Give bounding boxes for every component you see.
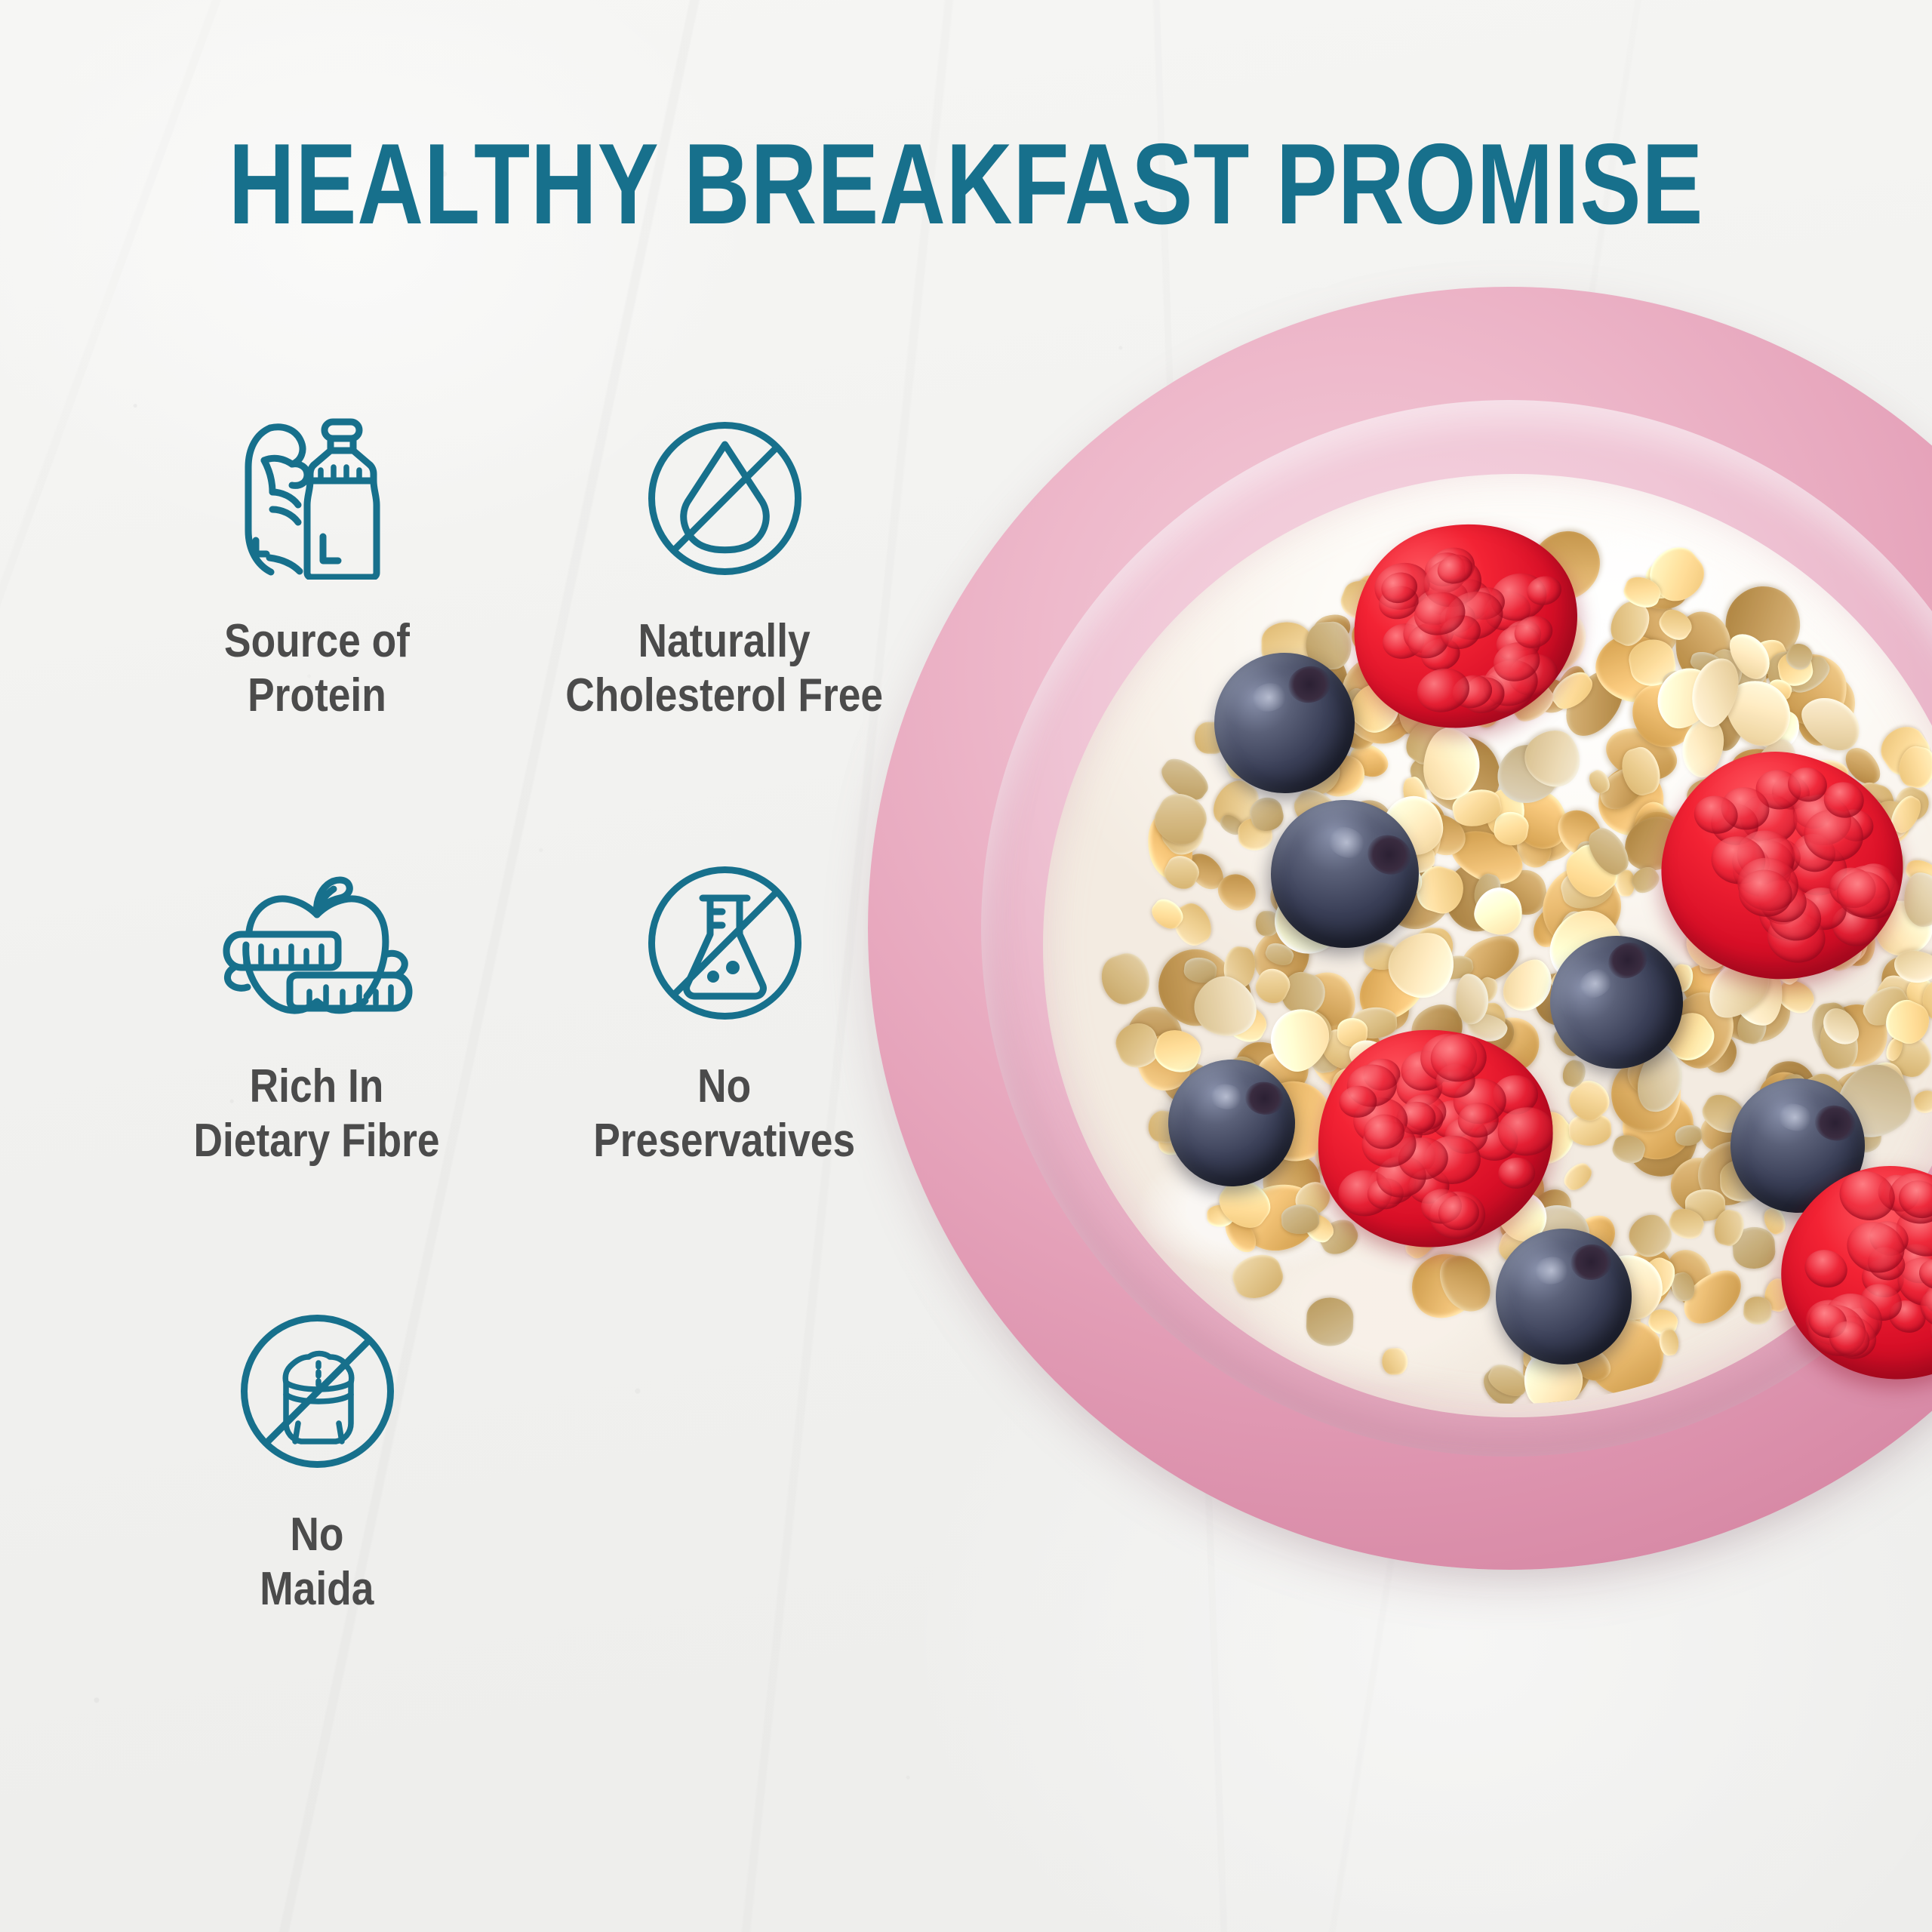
feature-slot-empty	[521, 1301, 928, 1617]
feature-label-line2: Cholesterol Free	[566, 669, 884, 721]
feature-label-line2: Maida	[260, 1563, 374, 1615]
feature-label-line2: Dietary Fibre	[194, 1115, 440, 1167]
feature-label-line1: Source of	[224, 615, 410, 667]
feature-no-maida[interactable]: No Maida	[113, 1301, 521, 1617]
feature-row-2: Rich In Dietary Fibre	[113, 853, 928, 1168]
poster-canvas: HEALTHY BREAKFAST PROMISE	[0, 0, 1932, 1932]
no-cholesterol-droplet-icon	[619, 408, 830, 589]
no-chemical-flask-icon	[619, 853, 830, 1034]
feature-label-line1: Rich In	[250, 1060, 384, 1112]
feature-row-1: Source of Protein Naturally Cholesterol …	[113, 408, 928, 723]
feature-row-3: No Maida	[113, 1301, 928, 1617]
feature-label-line2: Preservatives	[594, 1115, 856, 1167]
page-title: HEALTHY BREAKFAST PROMISE	[193, 127, 1739, 241]
feature-label: Naturally Cholesterol Free	[566, 614, 884, 723]
feature-label-line1: Naturally	[638, 615, 811, 667]
feature-source-of-protein[interactable]: Source of Protein	[113, 408, 521, 723]
feature-label: No Preservatives	[594, 1060, 856, 1168]
feature-label-line1: No	[697, 1060, 751, 1112]
feature-label: No Maida	[260, 1508, 374, 1617]
feature-label-line2: Protein	[248, 669, 386, 721]
feature-label-line1: No	[290, 1509, 343, 1561]
feature-label: Source of Protein	[224, 614, 410, 723]
bicep-shaker-bottle-icon	[211, 408, 423, 589]
feature-rich-in-dietary-fibre[interactable]: Rich In Dietary Fibre	[113, 853, 521, 1168]
apple-measuring-tape-icon	[211, 853, 423, 1034]
feature-naturally-cholesterol-free[interactable]: Naturally Cholesterol Free	[521, 408, 928, 723]
feature-no-preservatives[interactable]: No Preservatives	[521, 853, 928, 1168]
no-flour-sack-icon	[211, 1301, 423, 1482]
feature-label: Rich In Dietary Fibre	[194, 1060, 440, 1168]
feature-grid: Source of Protein Naturally Cholesterol …	[113, 408, 928, 1616]
